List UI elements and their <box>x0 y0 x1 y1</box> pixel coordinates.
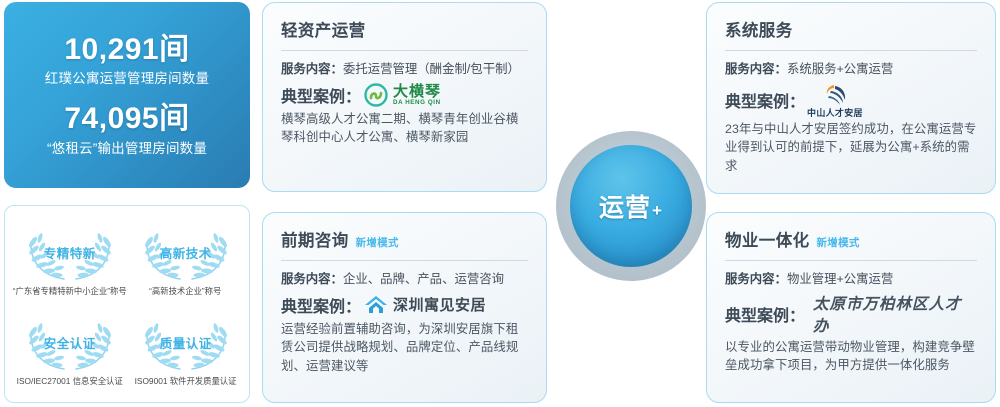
card-system-service[interactable]: 系统服务 服务内容： 系统服务+公寓运营 典型案例： 中山人才安居 23年与中山… <box>706 2 996 194</box>
certification-badge-text: 高新技术 <box>160 243 212 262</box>
service-value: 企业、品牌、产品、运营咨询 <box>343 270 504 289</box>
certification-badge-text: 安全认证 <box>44 333 96 352</box>
card-header: 前期咨询 新增模式 <box>281 227 528 251</box>
card-description: 23年与中山人才安居签约成功，在公寓运营专业得到认可的前提下，延展为公寓+系统的… <box>725 120 977 177</box>
service-value: 物业管理+公寓运营 <box>787 270 893 289</box>
card-header: 系统服务 <box>725 17 977 41</box>
service-label: 服务内容： <box>725 270 787 289</box>
center-hub-label: 运营+ <box>599 188 663 224</box>
service-label: 服务内容： <box>725 60 787 79</box>
case-row: 典型案例： 大横琴 DA HENG QIN <box>281 82 528 108</box>
stat-item: 10,291间 红璞公寓运营管理房间数量 <box>14 33 240 88</box>
card-badge-new-mode: 新增模式 <box>817 235 860 250</box>
shenzhen-logo: 深圳寓见安居 <box>363 293 486 317</box>
logo-text-cn: 中山人才安居 <box>807 109 863 118</box>
stat-item: 74,095间 “悠租云”输出管理房间数量 <box>14 102 240 157</box>
card-title: 前期咨询 <box>281 227 349 251</box>
case-label: 典型案例： <box>725 302 805 326</box>
certification-item: 质量认证 ISO9001 软件开发质量认证 <box>128 304 243 394</box>
card-description: 运营经验前置辅助咨询，为深圳安居旗下租赁公司提供战略规划、品牌定位、产品线规划、… <box>281 320 528 377</box>
card-header: 物业一体化 新增模式 <box>725 227 977 251</box>
case-row: 典型案例： 深圳寓见安居 <box>281 292 528 318</box>
stat-number: 10,291间 <box>14 33 240 68</box>
divider <box>281 50 528 51</box>
case-label: 典型案例： <box>725 88 805 112</box>
service-label: 服务内容： <box>281 60 343 79</box>
infographic-stage: 10,291间 红璞公寓运营管理房间数量 74,095间 “悠租云”输出管理房间… <box>0 0 1000 407</box>
card-property-integration[interactable]: 物业一体化 新增模式 服务内容： 物业管理+公寓运营 典型案例： 太原市万柏林区… <box>706 212 996 403</box>
daHengQin-logo-icon <box>363 83 389 107</box>
center-hub-text: 运营 <box>599 188 651 224</box>
laurel-wreath-icon: 专精特新 <box>18 222 122 284</box>
case-row: 典型案例： 太原市万柏林区人才办 <box>725 292 977 336</box>
divider <box>281 260 528 261</box>
stat-label: 红璞公寓运营管理房间数量 <box>14 70 240 88</box>
laurel-wreath-icon: 安全认证 <box>18 312 122 374</box>
service-value: 委托运营管理（酬金制/包干制） <box>343 60 520 79</box>
card-preliminary-consulting[interactable]: 前期咨询 新增模式 服务内容： 企业、品牌、产品、运营咨询 典型案例： 深圳寓见… <box>262 212 547 403</box>
service-label: 服务内容： <box>281 270 343 289</box>
center-hub-plus: + <box>652 201 663 221</box>
certification-caption: “高新技术企业”称号 <box>150 285 222 297</box>
card-light-asset-operation[interactable]: 轻资产运营 服务内容： 委托运营管理（酬金制/包干制） 典型案例： 大横琴 DA… <box>262 2 547 192</box>
case-row: 典型案例： 中山人才安居 <box>725 82 977 118</box>
case-label: 典型案例： <box>281 293 361 317</box>
case-label: 典型案例： <box>281 83 361 107</box>
card-badge-new-mode: 新增模式 <box>356 235 399 250</box>
card-description: 以专业的公寓运营带动物业管理，构建竞争壁垒成功拿下项目，为甲方提供一体化服务 <box>725 338 977 376</box>
house-roof-logo-icon <box>363 293 389 317</box>
card-header: 轻资产运营 <box>281 17 528 41</box>
taiyuan-logo-text: 太原市万柏林区人才办 <box>813 292 977 336</box>
center-hub[interactable]: 运营+ <box>556 131 706 281</box>
laurel-wreath-icon: 质量认证 <box>134 312 238 374</box>
card-title: 轻资产运营 <box>281 17 366 41</box>
service-row: 服务内容： 物业管理+公寓运营 <box>725 270 977 289</box>
service-row: 服务内容： 系统服务+公寓运营 <box>725 60 977 79</box>
card-description: 横琴高级人才公寓二期、横琴青年创业谷横琴科创中心人才公寓、横琴新家园 <box>281 110 528 148</box>
logo-text-cn: 大横琴 <box>393 84 441 99</box>
stats-panel: 10,291间 红璞公寓运营管理房间数量 74,095间 “悠租云”输出管理房间… <box>4 2 250 188</box>
certification-badge-text: 质量认证 <box>160 333 212 352</box>
certification-caption: “广东省专精特新中小企业”称号 <box>13 285 127 297</box>
certification-caption: ISO9001 软件开发质量认证 <box>135 375 237 387</box>
zhongshan-logo: 中山人才安居 <box>807 82 863 118</box>
center-hub-inner: 运营+ <box>570 145 692 267</box>
zhongshan-globe-logo-icon <box>818 82 852 108</box>
divider <box>725 50 977 51</box>
logo-text-en: DA HENG QIN <box>393 100 441 106</box>
card-title: 物业一体化 <box>725 227 810 251</box>
service-value: 系统服务+公寓运营 <box>787 60 893 79</box>
logo-text-cn: 深圳寓见安居 <box>393 294 486 315</box>
certification-caption: ISO/IEC27001 信息安全认证 <box>17 375 123 387</box>
certification-item: 高新技术 “高新技术企业”称号 <box>128 214 243 304</box>
stat-number: 74,095间 <box>14 102 240 137</box>
certification-badge-text: 专精特新 <box>44 243 96 262</box>
certification-item: 安全认证 ISO/IEC27001 信息安全认证 <box>11 304 128 394</box>
divider <box>725 260 977 261</box>
daHengQin-logo: 大横琴 DA HENG QIN <box>363 83 441 107</box>
service-row: 服务内容： 企业、品牌、产品、运营咨询 <box>281 270 528 289</box>
service-row: 服务内容： 委托运营管理（酬金制/包干制） <box>281 60 528 79</box>
laurel-wreath-icon: 高新技术 <box>134 222 238 284</box>
card-title: 系统服务 <box>725 17 793 41</box>
stat-label: “悠租云”输出管理房间数量 <box>14 140 240 158</box>
certifications-panel: 专精特新 “广东省专精特新中小企业”称号 <box>4 205 250 403</box>
certification-item: 专精特新 “广东省专精特新中小企业”称号 <box>11 214 128 304</box>
